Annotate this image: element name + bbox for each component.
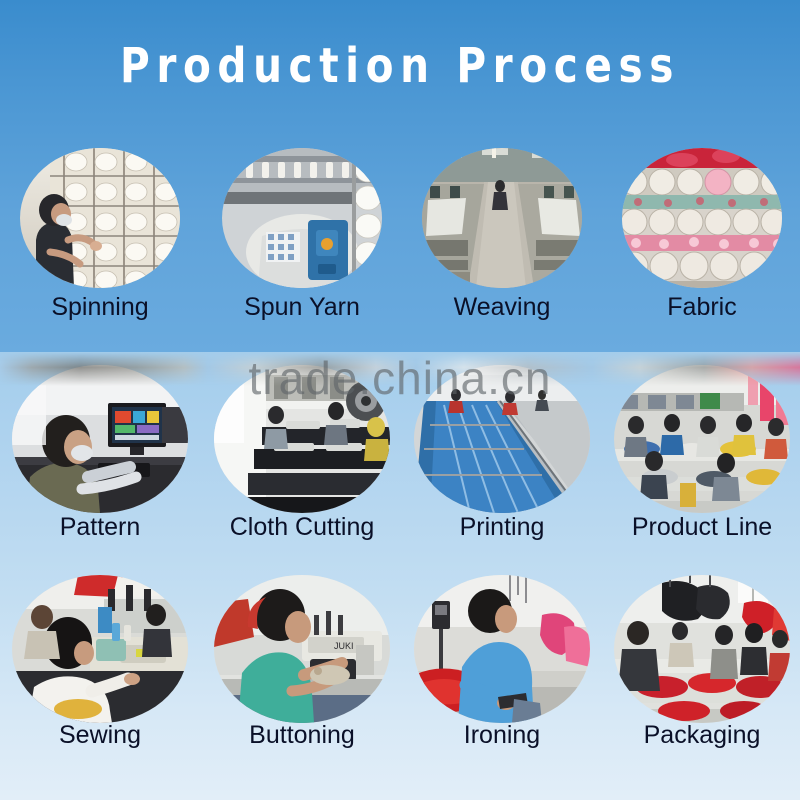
buttoning-icon: JUKI: [214, 575, 390, 723]
spun-yarn-icon: [222, 148, 382, 288]
weaving-photo-frame: [422, 148, 582, 288]
process-step-label: Weaving: [402, 295, 602, 320]
sewing-photo-frame: [12, 575, 188, 723]
product-line-photo-frame: [614, 365, 790, 513]
spun-yarn-photo-frame: [222, 148, 382, 288]
process-step-label: Buttoning: [202, 723, 402, 748]
spinning-icon: [20, 148, 180, 288]
printing-icon: [414, 365, 590, 513]
process-step-label: Pattern: [0, 515, 200, 540]
ironing-photo-frame: [414, 575, 590, 723]
process-step-label: Spun Yarn: [202, 295, 402, 320]
svg-text:JUKI: JUKI: [334, 641, 354, 651]
process-step-label: Ironing: [402, 723, 602, 748]
pattern-photo-frame: [12, 365, 188, 513]
spinning-photo-frame: [20, 148, 180, 288]
buttoning-photo-frame: JUKI: [214, 575, 390, 723]
cloth-cutting-photo-frame: [214, 365, 390, 513]
process-step-label: Fabric: [602, 295, 800, 320]
fabric-icon: [622, 148, 782, 288]
process-step-label: Packaging: [602, 723, 800, 748]
weaving-icon: [422, 148, 582, 288]
sewing-icon: [12, 575, 188, 723]
fabric-photo-frame: [622, 148, 782, 288]
process-step-label: Spinning: [0, 295, 200, 320]
product-line-icon: [614, 365, 790, 513]
ironing-icon: [414, 575, 590, 723]
packaging-icon: [614, 575, 790, 723]
printing-photo-frame: [414, 365, 590, 513]
process-step-label: Product Line: [602, 515, 800, 540]
cloth-cutting-icon: [214, 365, 390, 513]
process-step-label: Printing: [402, 515, 602, 540]
packaging-photo-frame: [614, 575, 790, 723]
production-process-poster: Production Process: [0, 0, 800, 800]
pattern-icon: [12, 365, 188, 513]
process-step-label: Cloth Cutting: [202, 515, 402, 540]
page-title: Production Process: [24, 42, 776, 90]
process-step-label: Sewing: [0, 723, 200, 748]
